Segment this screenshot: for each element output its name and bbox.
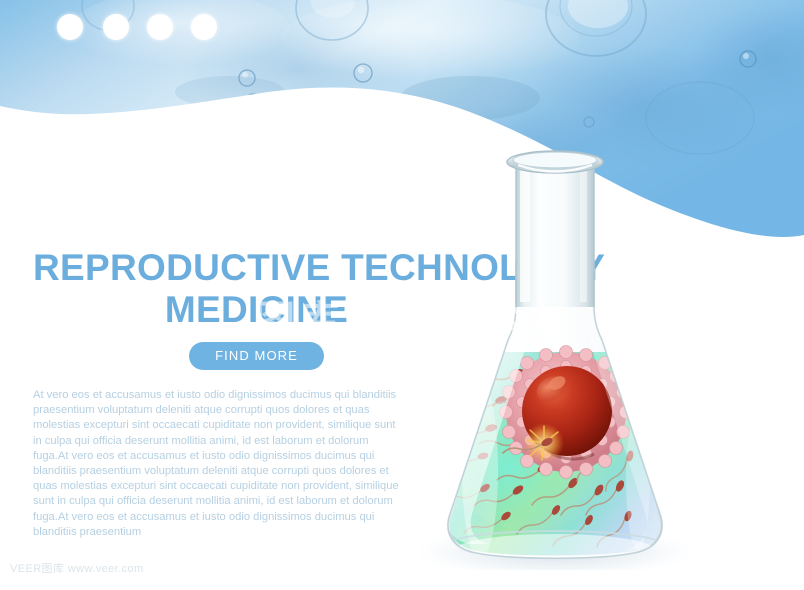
watermark-footer: VEER图库 www.veer.com — [10, 560, 144, 576]
corona-radiata — [506, 352, 626, 472]
pagination-dots[interactable] — [0, 0, 804, 60]
water-wave-background — [0, 0, 804, 260]
ovum-nucleus — [532, 371, 572, 407]
ovum-highlight — [546, 373, 568, 392]
flask-mouth — [513, 152, 597, 168]
rim-sheen — [518, 165, 592, 172]
ovum-egg-cell — [500, 346, 633, 479]
ovum-cytoplasm — [522, 366, 612, 456]
ovum-shade — [532, 432, 594, 459]
page-subtitle: MEDICINE — [33, 290, 480, 330]
pagination-dot-3[interactable] — [147, 14, 173, 40]
flask-rim — [507, 151, 603, 173]
find-more-button[interactable]: FIND MORE — [189, 342, 324, 370]
banner-root: REPRODUCTIVE TECHNOLOGY MEDICINE FIND MO… — [0, 0, 804, 590]
pagination-dot-2[interactable] — [103, 14, 129, 40]
wave-texture — [70, 0, 804, 196]
wave-shape — [0, 0, 804, 237]
watermark-flask: 公力 — [490, 292, 566, 341]
wave-svg — [0, 0, 804, 260]
pagination-dot-1[interactable] — [57, 14, 83, 40]
content-block: REPRODUCTIVE TECHNOLOGY MEDICINE FIND MO… — [33, 248, 493, 540]
page-title: REPRODUCTIVE TECHNOLOGY — [33, 248, 493, 288]
flask-mouth-edge — [513, 152, 597, 168]
fertilization-flare — [524, 423, 564, 463]
pagination-dot-4[interactable] — [191, 14, 217, 40]
cta-container: FIND MORE — [33, 342, 480, 370]
body-paragraph: At vero eos et accusamus et iusto odio d… — [33, 388, 403, 540]
corona-beads — [500, 346, 633, 479]
fertilizing-sperm — [503, 436, 554, 453]
flask-rim-edge — [507, 151, 603, 173]
flare-rays — [526, 426, 558, 460]
